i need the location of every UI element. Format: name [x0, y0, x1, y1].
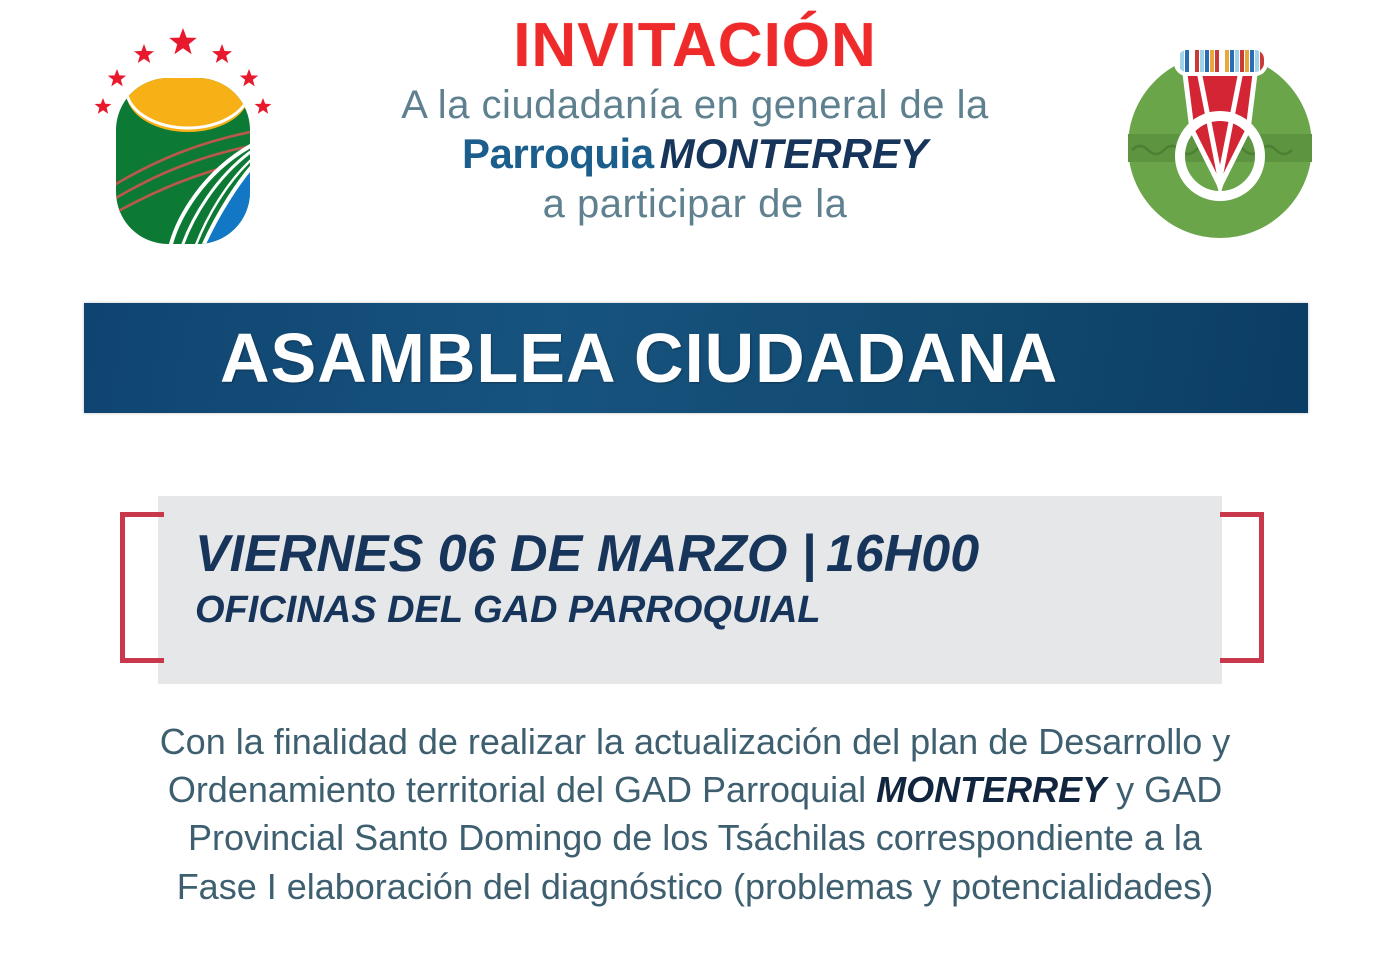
- body-monterrey-highlight: MONTERREY: [876, 769, 1106, 810]
- header-text-block: INVITACIÓN A la ciudadanía en general de…: [300, 14, 1090, 227]
- body-paragraph: Con la finalidad de realizar la actualiz…: [70, 718, 1320, 911]
- body-line-2-part-1: Ordenamiento territorial del GAD Parroqu…: [168, 769, 866, 810]
- body-line-3: Provincial Santo Domingo de los Tsáchila…: [70, 814, 1320, 862]
- logo-stripes: [1176, 48, 1266, 74]
- gad-parroquial-logo: [78, 22, 288, 247]
- body-line-2-part-2: y GAD: [1116, 769, 1222, 810]
- invitation-poster: INVITACIÓN A la ciudadanía en general de…: [0, 0, 1385, 960]
- event-text: VIERNES 06 DE MARZO|16H00 OFICINAS DEL G…: [195, 526, 1195, 634]
- event-date: VIERNES 06 DE MARZO: [195, 525, 787, 583]
- parroquia-name: MONTERREY: [660, 130, 928, 177]
- page-title: INVITACIÓN: [300, 14, 1090, 77]
- header-parroquia-line: ParroquiaMONTERREY: [300, 130, 1090, 178]
- body-line-4: Fase I elaboración del diagnóstico (prob…: [70, 863, 1320, 911]
- asamblea-banner: ASAMBLEA CIUDADANA: [84, 303, 1308, 413]
- bracket-right-icon: [1220, 512, 1264, 663]
- banner-title: ASAMBLEA CIUDADANA: [220, 323, 1058, 393]
- header-subtitle-2: a participar de la: [300, 182, 1090, 227]
- event-time: 16H00: [826, 525, 979, 583]
- gobierno-provincial-logo: [1118, 26, 1323, 241]
- event-separator: |: [801, 525, 816, 583]
- event-location: OFICINAS DEL GAD PARROQUIAL: [195, 588, 1195, 634]
- body-line-1: Con la finalidad de realizar la actualiz…: [70, 718, 1320, 766]
- bracket-left-icon: [120, 512, 164, 663]
- event-details-block: VIERNES 06 DE MARZO|16H00 OFICINAS DEL G…: [0, 492, 1385, 688]
- body-line-2: Ordenamiento territorial del GAD Parroqu…: [70, 766, 1320, 814]
- event-datetime-line: VIERNES 06 DE MARZO|16H00: [195, 526, 1195, 582]
- parroquia-label: Parroquia: [462, 130, 654, 177]
- header-subtitle-1: A la ciudadanía en general de la: [300, 83, 1090, 128]
